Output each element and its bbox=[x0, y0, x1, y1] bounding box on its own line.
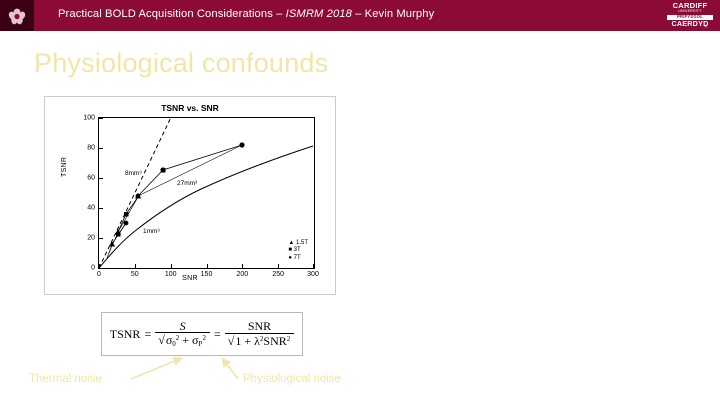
arrow-thermal bbox=[131, 358, 182, 379]
arrow-physiological bbox=[222, 358, 238, 379]
marker-7t bbox=[239, 142, 244, 147]
marker-7t bbox=[136, 194, 141, 199]
marker-7t bbox=[124, 221, 129, 226]
daffodil-icon bbox=[7, 5, 27, 27]
xtick-250: 250 bbox=[272, 271, 284, 278]
callout-physiological-noise: Physiological noise bbox=[243, 373, 341, 385]
legend-entry-1p5t: ▲ 1.5T bbox=[288, 240, 308, 248]
page-title: Physiological confounds bbox=[34, 48, 328, 79]
legend-marker-square: ■ bbox=[288, 247, 292, 253]
tsnr-vs-snr-figure: TSNR vs. SNR TSNR SNR 0 20 40 60 80 100 … bbox=[44, 96, 336, 295]
plot-area: 0 20 40 60 80 100 0 50 100 150 200 250 3… bbox=[98, 117, 315, 269]
legend-entry-7t: ● 7T bbox=[288, 255, 308, 263]
ytick-40: 40 bbox=[87, 205, 95, 212]
logo-line-caerdydd: CAERDYḎ bbox=[664, 20, 716, 28]
callout-thermal-noise: Thermal noise bbox=[29, 373, 102, 385]
equation-middle-fraction: S √σ02 + σP2 bbox=[155, 320, 210, 349]
plot-curves bbox=[99, 118, 314, 268]
equation-lhs: TSNR bbox=[110, 327, 141, 342]
equation-right-fraction: SNR √1 + λ2SNR2 bbox=[225, 320, 295, 347]
xtick-0: 0 bbox=[97, 271, 101, 278]
cardiff-daffodil-logo bbox=[0, 0, 34, 31]
ytick-60: 60 bbox=[87, 175, 95, 182]
ytick-0: 0 bbox=[91, 265, 95, 272]
chart-xlabel: SNR bbox=[45, 275, 335, 282]
xtick-50: 50 bbox=[131, 271, 139, 278]
chart-legend: ▲ 1.5T ■ 3T ● 7T bbox=[288, 240, 308, 263]
annotation-27mm3: 27mm³ bbox=[177, 180, 197, 187]
equation-equals-1: = bbox=[144, 327, 151, 342]
marker-3t bbox=[116, 232, 121, 237]
equation-middle-denominator: √σ02 + σP2 bbox=[155, 332, 210, 348]
header-bar: Practical BOLD Acquisition Consideration… bbox=[0, 0, 720, 31]
equation-right-denominator: √1 + λ2SNR2 bbox=[225, 333, 295, 348]
equation-middle-numerator: S bbox=[177, 320, 189, 333]
legend-entry-3t: ■ 3T bbox=[288, 247, 308, 255]
equation-right-numerator: SNR bbox=[245, 320, 274, 333]
cardiff-university-logo: CARDIFF UNIVERSITY PRIFYSGOL CAERDYḎ bbox=[664, 2, 716, 29]
tsnr-equation-box: TSNR = S √σ02 + σP2 = SNR √1 + λ2SNR2 bbox=[101, 312, 303, 356]
xtick-150: 150 bbox=[201, 271, 213, 278]
logo-line-university: UNIVERSITY bbox=[664, 10, 716, 14]
marker-3t bbox=[124, 212, 129, 217]
xtick-200: 200 bbox=[236, 271, 248, 278]
ytick-20: 20 bbox=[87, 235, 95, 242]
ytick-100: 100 bbox=[83, 115, 95, 122]
legend-label-1p5t: 1.5T bbox=[296, 240, 308, 246]
ytick-80: 80 bbox=[87, 145, 95, 152]
xtick-100: 100 bbox=[165, 271, 177, 278]
header-title-suffix: – Kevin Murphy bbox=[352, 8, 434, 20]
legend-marker-circle: ● bbox=[288, 255, 292, 261]
chart-ylabel: TSNR bbox=[61, 157, 68, 177]
tsnr-equation: TSNR = S √σ02 + σP2 = SNR √1 + λ2SNR2 bbox=[110, 320, 295, 349]
xtick-300: 300 bbox=[307, 271, 319, 278]
legend-label-7t: 7T bbox=[294, 255, 301, 261]
annotation-1mm3: 1mm³ bbox=[143, 228, 160, 235]
header-title-event: ISMRM 2018 bbox=[286, 8, 352, 20]
chart-title: TSNR vs. SNR bbox=[45, 103, 335, 113]
header-title: Practical BOLD Acquisition Consideration… bbox=[58, 8, 434, 20]
legend-label-3t: 3T bbox=[294, 247, 301, 253]
header-title-prefix: Practical BOLD Acquisition Consideration… bbox=[58, 8, 286, 20]
marker-7t bbox=[160, 167, 165, 172]
equation-equals-2: = bbox=[214, 327, 221, 342]
legend-marker-triangle: ▲ bbox=[288, 240, 294, 246]
annotation-8mm3: 8mm³ bbox=[125, 170, 142, 177]
